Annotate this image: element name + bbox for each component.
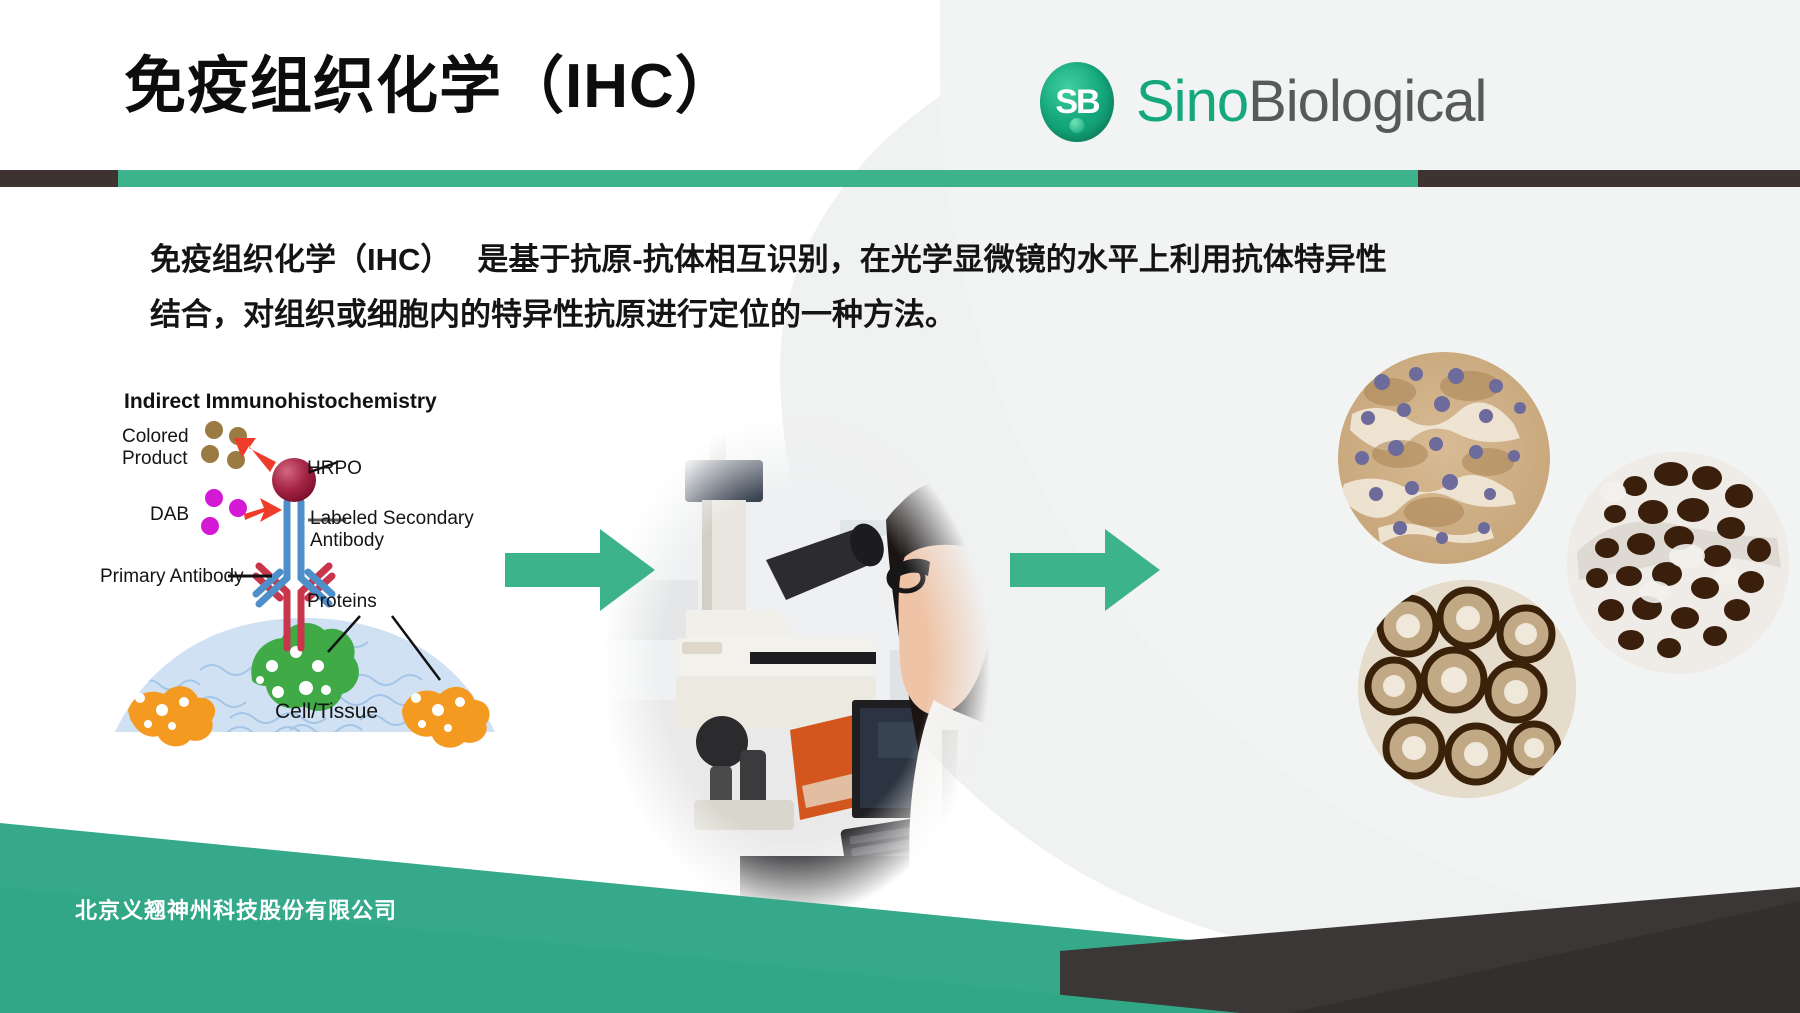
label-cell-tissue: Cell/Tissue [275, 700, 378, 724]
label-labeled-secondary-antibody: Labeled Secondary Antibody [310, 508, 485, 552]
divider-segment-green [118, 170, 1418, 187]
body-line-1: 免疫组织化学（IHC）是基于抗原-抗体相互识别，在光学显微镜的水平上利用抗体特异… [150, 232, 1550, 287]
ihc-stain-nuclear-dark [1567, 452, 1789, 674]
ihc-schematic-diagram: Indirect Immunohistochemistry [110, 380, 510, 755]
process-arrow-left [505, 525, 655, 620]
ihc-stain-membrane-her2 [1358, 580, 1576, 798]
body-paragraph: 免疫组织化学（IHC）是基于抗原-抗体相互识别，在光学显微镜的水平上利用抗体特异… [150, 232, 1550, 342]
header-divider [0, 170, 1800, 187]
footer-company-name: 北京义翘神州科技股份有限公司 [75, 893, 397, 925]
label-hrpo: HRPO [307, 458, 362, 480]
divider-segment-dark-left [0, 170, 118, 187]
logo-wordmark: SinoBiological [1136, 73, 1486, 131]
page-title: 免疫组织化学（IHC） [124, 56, 738, 118]
reaction-arrow-right-icon [244, 498, 282, 522]
dab-substrate-dots-icon [201, 489, 247, 535]
body-lead-term: 免疫组织化学（IHC） [150, 242, 451, 277]
label-colored-product: Colored Product [122, 426, 189, 470]
logo-badge-icon: SB [1040, 62, 1114, 142]
logo-badge-dot-icon [1070, 118, 1085, 133]
label-dab: DAB [150, 504, 189, 526]
label-colored-product-line2: Product [122, 448, 189, 470]
label-secondary-line2: Antibody [310, 530, 485, 552]
slide-canvas: 免疫组织化学（IHC） SB SinoBiological 免疫组织化学（IHC… [0, 0, 1800, 1013]
process-arrow-right [1010, 525, 1160, 620]
logo-word-sino: Sino [1136, 69, 1248, 134]
label-primary-antibody: Primary Antibody [100, 566, 244, 588]
ihc-stain-liver-brown [1338, 352, 1550, 564]
sino-biological-logo: SB SinoBiological [1040, 62, 1486, 142]
label-secondary-line1: Labeled Secondary [310, 508, 485, 530]
divider-segment-dark-right [1418, 170, 1800, 187]
logo-word-biological: Biological [1248, 69, 1486, 134]
body-line-1-rest: 是基于抗原-抗体相互识别，在光学显微镜的水平上利用抗体特异性 [477, 242, 1386, 277]
body-line-2: 结合，对组织或细胞内的特异性抗原进行定位的一种方法。 [150, 287, 1550, 342]
label-proteins: Proteins [307, 591, 377, 613]
membrane-protein-orange-right-icon [402, 687, 490, 748]
label-colored-product-line1: Colored [122, 426, 189, 448]
